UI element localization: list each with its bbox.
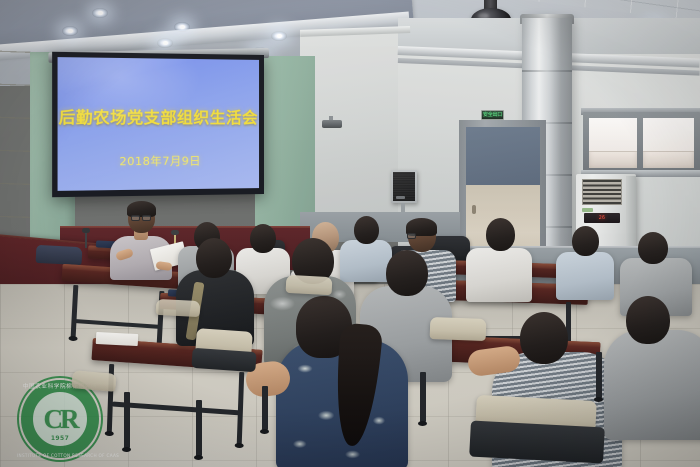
chair-leg bbox=[420, 372, 426, 422]
air-conditioner-grille bbox=[582, 179, 622, 205]
window-pane-left bbox=[589, 118, 637, 168]
chair-leg bbox=[196, 400, 202, 456]
glasses-icon bbox=[407, 233, 416, 239]
head bbox=[354, 216, 379, 244]
downlight bbox=[92, 8, 108, 18]
glasses-icon bbox=[142, 215, 151, 221]
document-papers bbox=[96, 332, 139, 346]
downlight bbox=[271, 31, 287, 41]
microphone-icon bbox=[82, 228, 90, 233]
meeting-room-photo: 后勤农场党支部组织生活会 2018年7月9日 安全出口 26 bbox=[0, 0, 700, 467]
left-wall-panels bbox=[0, 50, 34, 250]
air-conditioner-side bbox=[626, 176, 636, 248]
wall-speaker-icon bbox=[391, 170, 417, 203]
downlight bbox=[174, 22, 190, 32]
ac-temperature-value: 26 bbox=[599, 215, 606, 221]
air-conditioner-display: 26 bbox=[584, 213, 620, 223]
head bbox=[638, 232, 668, 264]
air-conditioner-badge bbox=[582, 208, 593, 212]
microphone-icon bbox=[171, 230, 179, 235]
projector-mount bbox=[322, 120, 342, 128]
head bbox=[520, 312, 568, 364]
glasses-icon bbox=[131, 215, 140, 221]
head bbox=[486, 218, 515, 251]
microphone-stand bbox=[85, 232, 87, 248]
chair-leg bbox=[596, 352, 602, 398]
chair-leg bbox=[124, 392, 130, 448]
head bbox=[386, 250, 428, 296]
door-upper-panel bbox=[466, 127, 540, 185]
logo-year: 1957 bbox=[17, 435, 103, 442]
chair-seat[interactable] bbox=[469, 421, 605, 464]
slide-title: 后勤农场党支部组织生活会 bbox=[59, 105, 258, 128]
head bbox=[626, 296, 670, 344]
chair-backrest[interactable] bbox=[430, 317, 487, 341]
torso bbox=[556, 252, 614, 300]
projection-screen-surface: 后勤农场党支部组织生活会 2018年7月9日 bbox=[58, 57, 259, 191]
head bbox=[572, 226, 599, 256]
window bbox=[583, 112, 700, 174]
exit-sign-icon: 安全出口 bbox=[481, 110, 504, 120]
downlight bbox=[62, 26, 78, 36]
torso bbox=[340, 240, 392, 282]
slide-date: 2018年7月9日 bbox=[119, 152, 201, 169]
window-blind bbox=[589, 118, 637, 152]
downlight bbox=[157, 38, 173, 48]
torso bbox=[466, 248, 532, 302]
chair-leg bbox=[262, 386, 268, 430]
bag-on-table bbox=[36, 245, 83, 265]
door-handle[interactable] bbox=[472, 205, 476, 214]
head bbox=[250, 224, 276, 253]
exit-sign-label: 安全出口 bbox=[483, 113, 502, 118]
window-pane-right bbox=[643, 118, 694, 168]
head bbox=[196, 238, 232, 278]
window-blind bbox=[643, 118, 694, 152]
chair-backrest[interactable] bbox=[156, 299, 201, 317]
chair-backrest[interactable] bbox=[71, 370, 116, 392]
torso bbox=[604, 330, 700, 440]
chair-backrest[interactable] bbox=[286, 275, 333, 295]
projection-screen: 后勤农场党支部组织生活会 2018年7月9日 bbox=[52, 52, 264, 197]
back-green-wall bbox=[255, 56, 315, 231]
logo-english-text: INSTITUTE OF COTTON RESEARCH OF CAAS bbox=[17, 453, 103, 458]
